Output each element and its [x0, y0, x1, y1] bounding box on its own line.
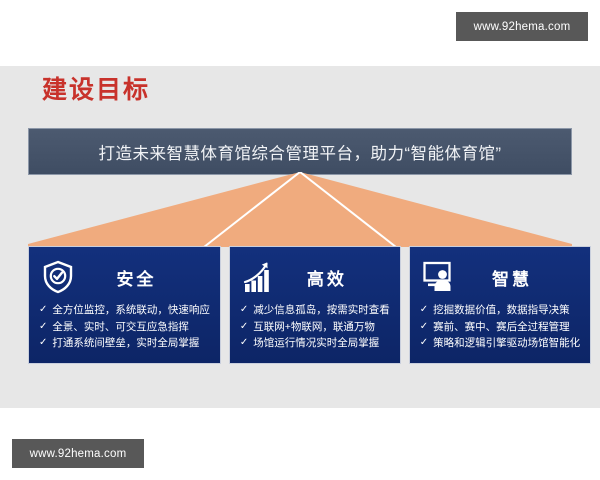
list-item: ✓ 全景、实时、可交互应急指挥 [39, 319, 210, 336]
roof-triangle [28, 172, 572, 247]
panel-security-bullets: ✓ 全方位监控，系统联动，快速响应 ✓ 全景、实时、可交互应急指挥 ✓ 打通系统… [39, 302, 210, 352]
list-item: ✓ 挖掘数据价值，数据指导决策 [420, 302, 580, 319]
watermark-top: www.92hema.com [456, 12, 588, 41]
page-title: 建设目标 [42, 78, 150, 103]
bullet-text: 策略和逻辑引擎驱动场馆智能化 [433, 335, 580, 352]
check-icon: ✓ [420, 319, 428, 336]
check-icon: ✓ [240, 319, 248, 336]
list-item: ✓ 赛前、赛中、赛后全过程管理 [420, 319, 580, 336]
bullet-text: 赛前、赛中、赛后全过程管理 [433, 319, 570, 336]
panel-efficiency[interactable]: 高效 ✓ 减少信息孤岛，按需实时查看 ✓ 互联网+物联网，联通万物 ✓ 场馆运行… [229, 246, 401, 364]
bullet-text: 全方位监控，系统联动，快速响应 [52, 302, 210, 319]
panel-security[interactable]: 安全 ✓ 全方位监控，系统联动，快速响应 ✓ 全景、实时、可交互应急指挥 ✓ 打… [28, 246, 221, 364]
check-icon: ✓ [240, 335, 248, 352]
bullet-text: 打通系统间壁垒，实时全局掌握 [52, 335, 199, 352]
watermark-top-text: www.92hema.com [474, 21, 571, 33]
roof-shape [28, 172, 572, 247]
slide-stage: 建设目标 打造未来智慧体育馆综合管理平台，助力“智能体育馆” 安全 [0, 66, 600, 408]
list-item: ✓ 场馆运行情况实时全局掌握 [240, 335, 390, 352]
roof-triangle-icon [28, 172, 572, 247]
panel-efficiency-title: 高效 [278, 265, 390, 290]
pillar-panels: 安全 ✓ 全方位监控，系统联动，快速响应 ✓ 全景、实时、可交互应急指挥 ✓ 打… [28, 246, 572, 364]
panel-efficiency-bullets: ✓ 减少信息孤岛，按需实时查看 ✓ 互联网+物联网，联通万物 ✓ 场馆运行情况实… [240, 302, 390, 352]
check-icon: ✓ [39, 319, 47, 336]
bullet-text: 挖掘数据价值，数据指导决策 [433, 302, 570, 319]
panel-security-header: 安全 [39, 255, 210, 299]
panel-intelligence-title: 智慧 [458, 265, 580, 290]
check-icon: ✓ [240, 302, 248, 319]
bullet-text: 减少信息孤岛，按需实时查看 [253, 302, 390, 319]
list-item: ✓ 全方位监控，系统联动，快速响应 [39, 302, 210, 319]
bullet-text: 全景、实时、可交互应急指挥 [52, 319, 189, 336]
headline-banner: 打造未来智慧体育馆综合管理平台，助力“智能体育馆” [28, 128, 572, 175]
watermark-bottom: www.92hema.com [12, 439, 144, 468]
check-icon: ✓ [39, 335, 47, 352]
list-item: ✓ 互联网+物联网，联通万物 [240, 319, 390, 336]
panel-intelligence[interactable]: 智慧 ✓ 挖掘数据价值，数据指导决策 ✓ 赛前、赛中、赛后全过程管理 ✓ 策略和… [409, 246, 591, 364]
list-item: ✓ 减少信息孤岛，按需实时查看 [240, 302, 390, 319]
bar-chart-growth-icon [240, 258, 278, 296]
list-item: ✓ 策略和逻辑引擎驱动场馆智能化 [420, 335, 580, 352]
watermark-bottom-text: www.92hema.com [30, 448, 127, 460]
panel-intelligence-header: 智慧 [420, 255, 580, 299]
check-icon: ✓ [420, 335, 428, 352]
headline-banner-text: 打造未来智慧体育馆综合管理平台，助力“智能体育馆” [99, 140, 502, 164]
panel-security-title: 安全 [77, 265, 210, 290]
list-item: ✓ 打通系统间壁垒，实时全局掌握 [39, 335, 210, 352]
panel-efficiency-header: 高效 [240, 255, 390, 299]
presenter-board-icon [420, 258, 458, 296]
bullet-text: 互联网+物联网，联通万物 [253, 319, 375, 336]
check-icon: ✓ [39, 302, 47, 319]
check-icon: ✓ [420, 302, 428, 319]
panel-intelligence-bullets: ✓ 挖掘数据价值，数据指导决策 ✓ 赛前、赛中、赛后全过程管理 ✓ 策略和逻辑引… [420, 302, 580, 352]
bullet-text: 场馆运行情况实时全局掌握 [253, 335, 379, 352]
shield-check-icon [39, 258, 77, 296]
